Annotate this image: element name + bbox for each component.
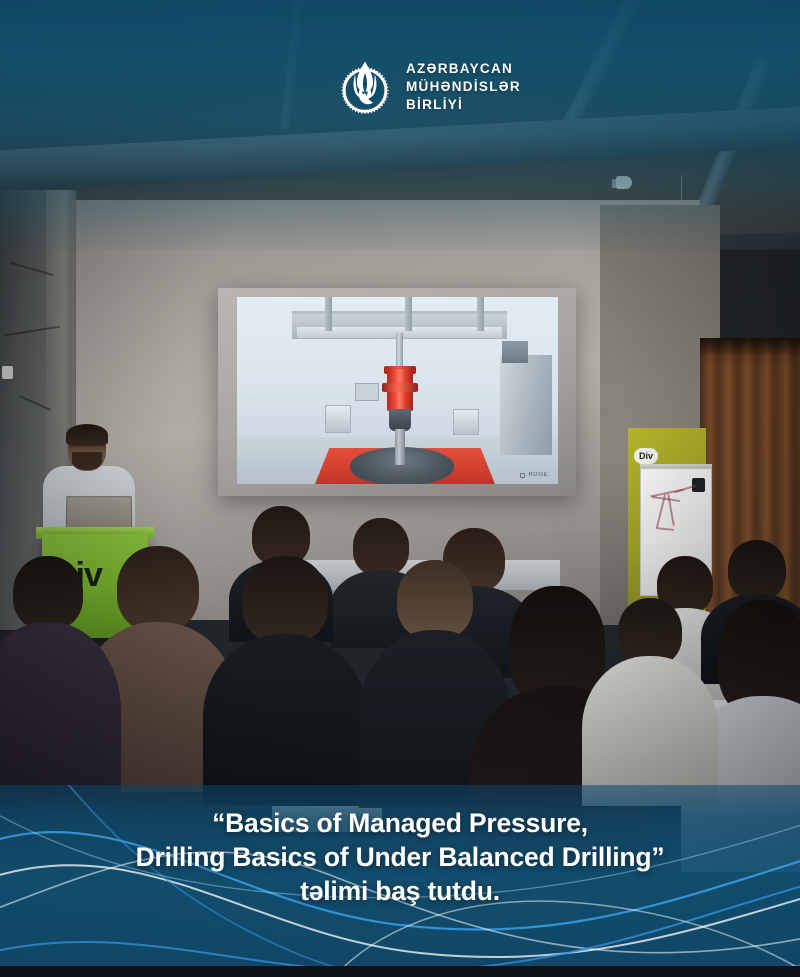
presenter-beard bbox=[72, 452, 102, 470]
wall-socket bbox=[2, 366, 13, 379]
rig-control-panel bbox=[355, 383, 379, 401]
brand-logo-text: AZƏRBAYCAN MÜHƏNDİSLƏR BİRLİYİ bbox=[406, 60, 521, 113]
caption-line-2: Drilling Basics of Under Balanced Drilli… bbox=[18, 841, 782, 875]
projection-screen-content: ROGE bbox=[237, 297, 558, 484]
laptop-icon bbox=[66, 496, 133, 530]
caption-overlay: “Basics of Managed Pressure, Drilling Ba… bbox=[0, 785, 800, 977]
event-announcement-poster: ROGE Div Div bbox=[0, 0, 800, 977]
rig-equipment bbox=[500, 355, 552, 455]
whiteboard-badge: Div bbox=[634, 448, 658, 464]
brand-logo: AZƏRBAYCAN MÜHƏNDİSLƏR BİRLİYİ bbox=[336, 58, 521, 116]
security-camera-icon bbox=[616, 176, 632, 189]
caption-line-3: təlimi baş tutdu. bbox=[18, 875, 782, 909]
caption-line-1: “Basics of Managed Pressure, bbox=[18, 807, 782, 841]
rig-railing-right bbox=[453, 409, 479, 435]
rig-drill-head bbox=[389, 409, 411, 431]
caption-text: “Basics of Managed Pressure, Drilling Ba… bbox=[0, 807, 800, 909]
audience-member bbox=[230, 556, 340, 796]
projection-watermark: ROGE bbox=[520, 472, 548, 478]
rig-vertical-beam bbox=[405, 297, 412, 331]
audience-member bbox=[598, 598, 702, 798]
square-outline-icon bbox=[520, 473, 525, 478]
rig-vertical-beam bbox=[325, 297, 332, 331]
audience-member bbox=[0, 556, 96, 796]
rig-vertical-beam bbox=[477, 297, 484, 331]
rig-top-drive-band bbox=[382, 383, 418, 392]
brand-line-2: MÜHƏNDİSLƏR bbox=[406, 78, 521, 96]
rig-railing-left bbox=[325, 405, 351, 433]
presenter-hair bbox=[66, 424, 108, 446]
watermark-label: ROGE bbox=[528, 472, 548, 478]
flame-gear-emblem-icon bbox=[336, 58, 394, 116]
brand-line-3: BİRLİYİ bbox=[406, 96, 521, 114]
bottom-bar bbox=[0, 966, 800, 977]
brand-line-1: AZƏRBAYCAN bbox=[406, 60, 521, 78]
rig-equipment-top bbox=[502, 341, 528, 363]
wood-panel-shadow bbox=[700, 338, 800, 356]
rig-drill-pipe bbox=[395, 429, 405, 465]
